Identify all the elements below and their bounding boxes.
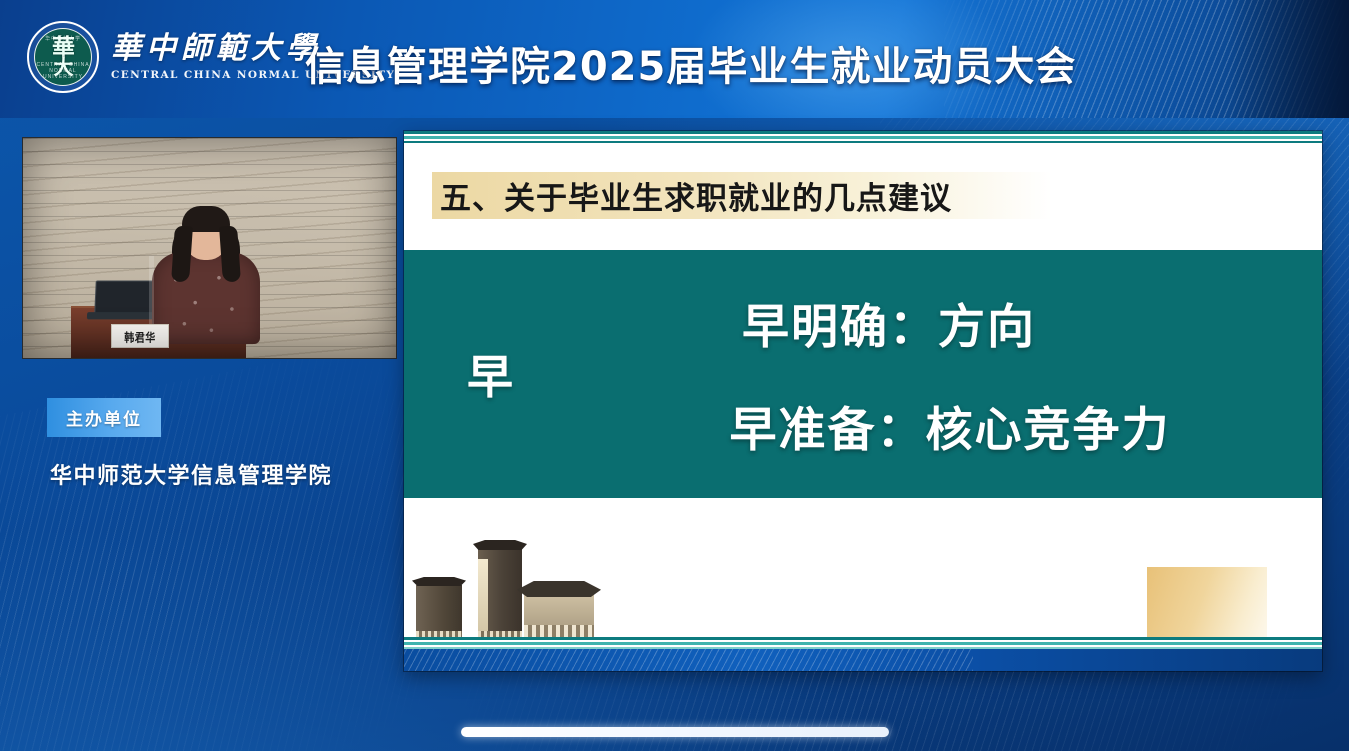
video-progress-bar[interactable] xyxy=(461,727,889,737)
seal-arc-top-text: 华中师范大学 xyxy=(35,35,91,42)
panel-advice-list: 早明确：方向 早准备：核心竞争力 xyxy=(576,288,1322,460)
seal-arc-bottom-text: CENTRAL CHINA NORMAL UNIVERSITY xyxy=(35,62,91,80)
university-seal-icon: 华中师范大学 華 大 CENTRAL CHINA NORMAL UNIVERSI… xyxy=(27,21,99,93)
page-background: 华中师范大学 華 大 CENTRAL CHINA NORMAL UNIVERSI… xyxy=(0,0,1349,751)
seal-inner-disc: 华中师范大学 華 大 CENTRAL CHINA NORMAL UNIVERSI… xyxy=(34,28,92,86)
building-left-roof xyxy=(412,577,466,586)
building-tower-roof xyxy=(473,540,527,550)
panel-advice-line-1: 早明确：方向 xyxy=(576,288,1294,357)
panel-advice-line-2: 早准备：核心竞争力 xyxy=(576,391,1294,460)
speaker-hair-left xyxy=(171,225,193,282)
slide-heading-text: 五、关于毕业生求职就业的几点建议 xyxy=(432,173,952,218)
panel-keyword: 早 xyxy=(404,341,576,407)
campus-buildings-illustration xyxy=(412,532,632,647)
event-header-banner: 华中师范大学 華 大 CENTRAL CHINA NORMAL UNIVERSI… xyxy=(0,0,1349,118)
presentation-slide[interactable]: 五、关于毕业生求职就业的几点建议 早 早明确：方向 早准备：核心竞争力 xyxy=(404,131,1322,671)
header-right-shadow xyxy=(1228,0,1349,118)
speaker-video-feed[interactable]: 韩君华 xyxy=(22,137,397,359)
slide-top-stripes xyxy=(404,131,1322,143)
event-title: 信息管理学院2025届毕业生就业动员大会 xyxy=(305,34,1076,92)
speaker-hair-right xyxy=(219,225,241,282)
slide-footer-artwork xyxy=(404,498,1322,671)
building-tower xyxy=(478,549,522,647)
building-hall-roof xyxy=(517,581,601,597)
slide-blue-footer-bar xyxy=(404,649,1322,671)
speaker-name-text: 韩君华 xyxy=(124,327,156,344)
gold-accent-block xyxy=(1147,567,1267,639)
sponsor-badge: 主办单位 xyxy=(47,398,161,437)
sponsor-organization-name: 华中师范大学信息管理学院 xyxy=(50,458,332,490)
slide-section-heading: 五、关于毕业生求职就业的几点建议 xyxy=(432,172,1052,219)
slide-bottom-stripes xyxy=(404,637,1322,649)
speaker-name-placard: 韩君华 xyxy=(111,324,169,348)
slide-content-panel: 早 早明确：方向 早准备：核心竞争力 xyxy=(404,250,1322,498)
